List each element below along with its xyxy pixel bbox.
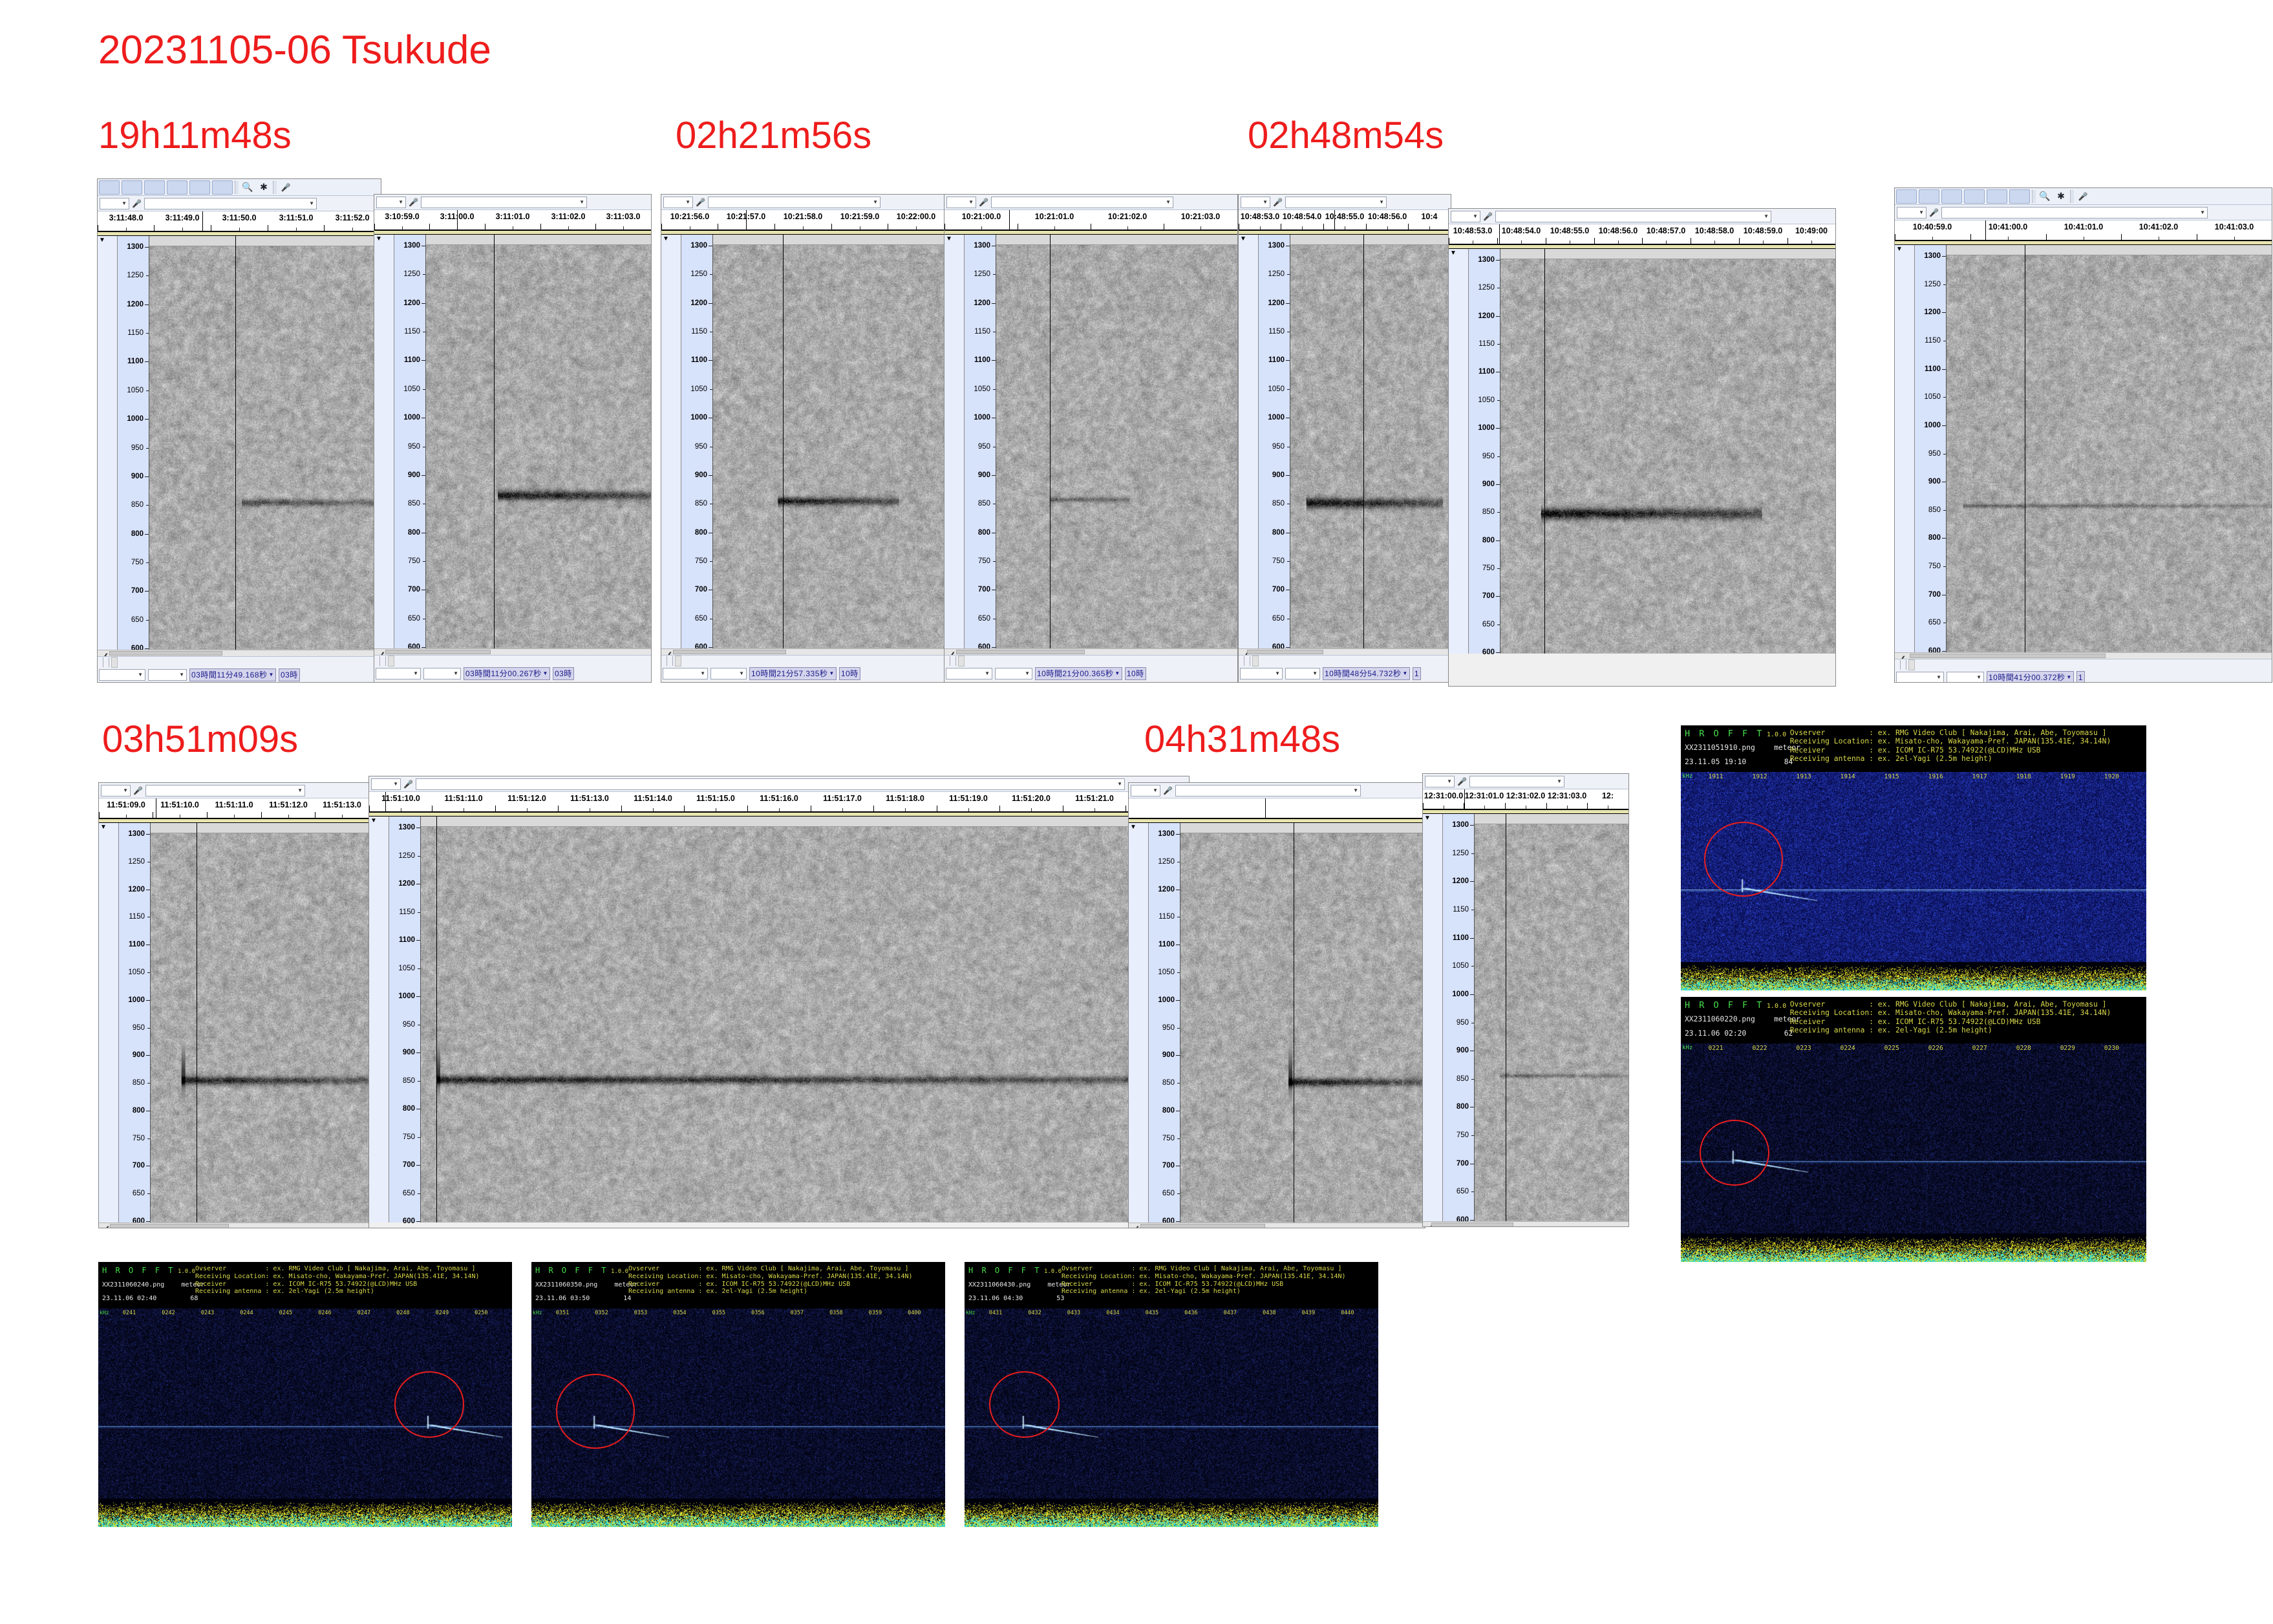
frequency-ruler: 1300125012001150110010501000950900850800…	[389, 817, 421, 1223]
hrofft-time-tick: 0358	[829, 1310, 842, 1316]
hrofft-window-h5[interactable]: H R O F F T 1.0.0XX2311060430.pngmeteor2…	[965, 1262, 1378, 1527]
record-button[interactable]	[1987, 189, 2007, 204]
microphone-icon: 🎤	[1163, 786, 1173, 795]
host-select[interactable]: ▼	[1131, 785, 1160, 796]
microphone-icon: 🎤	[2076, 190, 2090, 203]
selection-start-field[interactable]: 10時間21分00.365秒▼	[1035, 667, 1122, 680]
multi-tool-icon[interactable]: ✱	[257, 181, 271, 194]
sample-rate-select[interactable]: ▼	[1240, 668, 1283, 679]
skip-start-button[interactable]	[167, 180, 187, 195]
horizontal-scrollbar[interactable]: ❮	[374, 648, 651, 655]
horizontal-scrollbar[interactable]: ❮	[661, 648, 944, 655]
horizontal-scrollbar[interactable]: ❮	[1423, 1221, 1628, 1227]
channels-select[interactable]	[883, 197, 943, 208]
hrofft-datetime: 23.11.06 03:50	[535, 1295, 590, 1302]
audio-track[interactable]: ▼130012501200115011001050100095090085080…	[661, 235, 944, 648]
frequency-tick-label: 1050	[1158, 968, 1175, 976]
recording-device-select[interactable]: ▼	[708, 197, 880, 208]
audio-track[interactable]: ▼130012501200115011001050100095090085080…	[98, 236, 381, 650]
device-toolbar[interactable]: ▼🎤▼	[1129, 783, 1425, 798]
host-select[interactable]: ▼	[1241, 197, 1270, 208]
timeline-ruler[interactable]: 10:40:59.010:41:00.010:41:01.010:41:02.0…	[1895, 220, 2272, 240]
selection-end-field[interactable]: 1	[2076, 671, 2085, 683]
ruler-tick-label: 10:48:55.0	[1325, 212, 1364, 221]
channels-select[interactable]	[319, 198, 379, 209]
track-name-label	[713, 235, 944, 245]
hrofft-window-h4[interactable]: H R O F F T 1.0.0XX2311060350.pngmeteor2…	[531, 1262, 945, 1527]
audio-track[interactable]: ▼130012501200115011001050100095090085080…	[944, 235, 1237, 648]
hrofft-time-tick: 0357	[791, 1310, 804, 1316]
timeline-quickplay-bar[interactable]	[661, 230, 944, 235]
ruler-tick-label: 10:21:00.0	[962, 212, 1001, 221]
recording-device-select[interactable]: ▼	[1285, 197, 1387, 208]
device-toolbar[interactable]: ▼🎤▼	[944, 195, 1237, 210]
toolbar-grip-2[interactable]	[273, 181, 277, 194]
playhead-cursor[interactable]	[1985, 220, 1986, 240]
khz-axis-label: kHz	[533, 1310, 542, 1316]
horizontal-scrollbar[interactable]: ❮	[99, 1223, 369, 1228]
playhead-cursor[interactable]	[385, 792, 386, 811]
timeline-quickplay-bar[interactable]	[1129, 818, 1425, 823]
frequency-tick-label: 900	[1928, 478, 1941, 486]
hrofft-window-h3[interactable]: H R O F F T 1.0.0XX2311060240.pngmeteor2…	[98, 1262, 512, 1527]
frequency-tick-label: 800	[978, 529, 990, 537]
frequency-tick-label: 850	[1162, 1079, 1175, 1087]
hrofft-header: H R O F F T 1.0.0XX2311060240.pngmeteor2…	[98, 1262, 512, 1309]
selection-start-field[interactable]: 03時間11分49.168秒▼	[189, 668, 276, 681]
audacity-window-p8[interactable]: ▼🎤▼11:51:09.011:51:10.011:51:11.011:51:1…	[98, 782, 370, 1228]
hrofft-spectrogram[interactable]: kHz0221022202230224022502260227022802290…	[1681, 1043, 2146, 1262]
hrofft-time-tick: 1911	[1708, 773, 1723, 780]
horizontal-scrollbar[interactable]: ❮	[944, 648, 1237, 655]
snap-mode-select[interactable]: ▼	[1285, 668, 1320, 679]
audio-track[interactable]: ▼130012501200115011001050100095090085080…	[1239, 235, 1451, 648]
frequency-tick-label: 850	[978, 500, 990, 507]
track-playhead	[436, 817, 437, 1223]
selection-toolbar[interactable]: ▼▼03時間11分00.267秒▼03時	[374, 655, 651, 681]
track-menu-icon[interactable]: ▼	[1129, 823, 1148, 831]
ruler-tick-label: 10:21:03.0	[1181, 212, 1220, 221]
recording-device-select[interactable]: ▼	[1495, 211, 1771, 222]
play-button[interactable]	[122, 180, 142, 195]
frequency-tick-label: 850	[408, 500, 420, 507]
pause-button[interactable]	[1896, 189, 1917, 204]
timeline-ruler[interactable]: 3:11:48.03:11:49.03:11:50.03:11:51.03:11…	[98, 211, 381, 231]
horizontal-scrollbar[interactable]: ❮	[98, 650, 381, 656]
multi-tool-icon[interactable]: ✱	[2054, 190, 2068, 203]
playhead-cursor[interactable]	[202, 211, 203, 231]
snap-mode-select[interactable]: ▼	[710, 668, 747, 679]
selection-start-value: 10時間48分54.732秒	[1325, 668, 1401, 679]
playhead-cursor[interactable]	[1265, 798, 1266, 818]
ruler-tick-label: 3:11:50.0	[222, 213, 257, 222]
hrofft-metadata-block: Ovserver : ex. RMG Video Club [ Nakajima…	[1790, 729, 2111, 763]
scroll-left-icon[interactable]: ❮	[1129, 1226, 1140, 1228]
meteor-echo-highlight-circle	[989, 1371, 1060, 1438]
timeline-quickplay-bar[interactable]	[374, 230, 651, 235]
track-control-panel[interactable]: ▼	[369, 817, 389, 1223]
horizontal-scrollbar[interactable]: ❮	[1239, 648, 1451, 655]
channels-select[interactable]	[1774, 211, 1833, 222]
track-control-panel[interactable]: ▼	[944, 235, 965, 648]
snap-mode-select[interactable]: ▼	[1947, 672, 1984, 683]
stop-button[interactable]	[144, 180, 165, 195]
audio-track[interactable]: ▼130012501200115011001050100095090085080…	[1895, 245, 2272, 652]
timeline-ruler[interactable]: 3:10:59.03:11:00.03:11:01.03:11:02.03:11…	[374, 210, 651, 230]
track-control-panel[interactable]: ▼	[1895, 245, 1915, 652]
audacity-window-p2[interactable]: ▼🎤▼3:10:59.03:11:00.03:11:01.03:11:02.03…	[374, 194, 652, 683]
selection-start-value: 10時間21分57.335秒	[751, 668, 827, 679]
selection-start-field[interactable]: 03時間11分00.267秒▼	[464, 667, 550, 680]
hrofft-meta-key: Ovserver	[628, 1265, 698, 1272]
zoom-icon[interactable]: 🔍	[2038, 190, 2052, 203]
channels-select[interactable]	[1176, 197, 1235, 208]
skip-start-button[interactable]	[1964, 189, 1985, 204]
zoom-icon[interactable]: 🔍	[240, 181, 255, 194]
frequency-tick-label: 750	[1162, 1135, 1175, 1142]
hrofft-spectrogram[interactable]: kHz0351035203530354035503560357035803590…	[531, 1309, 945, 1527]
frequency-tick-label: 1250	[398, 852, 415, 860]
track-playhead	[1294, 823, 1294, 1223]
selection-toolbar[interactable]: ▼▼10時間21分00.365秒▼10時	[944, 655, 1237, 681]
audio-track[interactable]: ▼130012501200115011001050100095090085080…	[1129, 823, 1425, 1223]
spectrogram-canvas	[426, 245, 651, 648]
channels-select[interactable]	[590, 197, 649, 208]
spectrogram-view[interactable]	[426, 235, 651, 648]
selection-end-value: 10時	[841, 668, 859, 679]
frequency-tick-label: 1050	[1924, 393, 1941, 401]
selection-start-field[interactable]: 10時間41分00.372秒▼	[1987, 671, 2074, 683]
frequency-tick-label: 1050	[127, 387, 144, 394]
audio-track[interactable]: ▼130012501200115011001050100095090085080…	[369, 817, 1189, 1223]
host-select[interactable]: ▼	[371, 778, 401, 790]
frequency-tick-label: 1250	[128, 858, 145, 866]
audacity-window-p1[interactable]: 🔍✱🎤▼🎤▼3:11:48.03:11:49.03:11:50.03:11:51…	[97, 178, 381, 683]
event-label-2: 02h21m56s	[676, 114, 871, 157]
track-control-panel[interactable]: ▼	[1423, 814, 1443, 1221]
ruler-tick-label: 11:51:11.0	[444, 794, 482, 803]
frequency-tick-label: 1000	[128, 996, 145, 1004]
frequency-tick-label: 1150	[1158, 913, 1175, 921]
selection-end-field[interactable]: 1	[1413, 667, 1421, 680]
channels-select[interactable]	[1567, 776, 1627, 787]
spectrogram-canvas	[151, 833, 369, 1222]
ruler-tick-label: 10:48:59.0	[1744, 226, 1782, 235]
device-toolbar[interactable]: ▼🎤▼	[1449, 209, 1835, 224]
audacity-window-p5[interactable]: ▼🎤▼10:48:53.010:48:54.010:48:55.010:48:5…	[1238, 194, 1451, 683]
playhead-cursor[interactable]	[156, 798, 156, 818]
frequency-ruler: 1300125012001150110010501000950900850800…	[1259, 235, 1290, 648]
selection-toolbar[interactable]: ▼▼03時間11分49.168秒▼03時	[98, 656, 381, 682]
track-control-panel[interactable]: ▼	[1449, 249, 1469, 654]
frequency-tick-label: 1150	[974, 328, 990, 336]
audacity-window-p6[interactable]: ▼🎤▼10:48:53.010:48:54.010:48:55.010:48:5…	[1448, 208, 1836, 687]
playhead-cursor[interactable]	[746, 210, 747, 230]
track-control-panel[interactable]: ▼	[99, 823, 119, 1223]
timeline-quickplay-bar[interactable]	[944, 230, 1237, 235]
sample-rate-select[interactable]: ▼	[1896, 672, 1944, 683]
device-toolbar[interactable]: ▼🎤▼	[1423, 774, 1628, 789]
frequency-tick-label: 950	[133, 1024, 145, 1032]
frequency-tick-label: 1000	[974, 414, 990, 422]
playhead-cursor[interactable]	[1499, 224, 1500, 244]
hrofft-spectrogram[interactable]: kHz1911191219131914191519161917191819191…	[1681, 772, 2146, 990]
timeline-quickplay-bar[interactable]	[1239, 230, 1451, 235]
spectrogram-view[interactable]	[151, 823, 369, 1223]
selection-end-field[interactable]: 03時	[553, 667, 574, 680]
sample-rate-label	[1239, 656, 1244, 666]
hrofft-window-h1[interactable]: H R O F F T 1.0.0XX2311051910.pngmeteor2…	[1681, 725, 2146, 990]
spectrogram-view[interactable]	[713, 235, 944, 648]
snap-mode-select[interactable]: ▼	[148, 669, 187, 681]
audacity-window-p7[interactable]: 🔍✱🎤▼🎤▼10:40:59.010:41:00.010:41:01.010:4…	[1894, 187, 2272, 683]
hrofft-meta-key: Receiver	[1790, 1018, 1869, 1026]
ruler-tick-label: 10:22:00.0	[897, 212, 935, 221]
audacity-window-p4[interactable]: ▼🎤▼10:21:00.010:21:01.010:21:02.010:21:0…	[944, 194, 1238, 683]
frequency-tick-label: 1100	[399, 936, 415, 944]
spectrogram-view[interactable]	[1290, 235, 1451, 648]
ruler-tick-label: 12:31:00.0	[1424, 791, 1463, 800]
track-menu-icon[interactable]: ▼	[369, 817, 389, 825]
host-select[interactable]: ▼	[376, 197, 406, 208]
audio-track[interactable]: ▼130012501200115011001050100095090085080…	[374, 235, 651, 648]
hrofft-meta-key: Receiving Location	[1062, 1273, 1131, 1280]
spectrogram-view[interactable]	[149, 236, 381, 650]
hrofft-meta-value: ex. Misato-cho, Wakayama-Pref. JAPAN(135…	[1139, 1273, 1345, 1280]
selection-toolbar[interactable]: ▼▼10時間48分54.732秒▼1	[1239, 655, 1451, 681]
khz-axis-label: kHz	[100, 1310, 109, 1316]
timeline-ruler[interactable]: 12:31:00.012:31:01.012:31:02.012:31:03.0…	[1423, 789, 1628, 809]
frequency-tick-label: 900	[695, 471, 707, 479]
device-toolbar[interactable]: ▼🎤▼	[98, 196, 381, 211]
host-select[interactable]: ▼	[100, 198, 129, 209]
playhead-cursor[interactable]	[1464, 789, 1465, 809]
ruler-tick-label: 10:41:02.0	[2139, 222, 2178, 231]
timeline-ruler[interactable]: 10:21:00.010:21:01.010:21:02.010:21:03.0	[944, 210, 1237, 230]
loop-button[interactable]	[212, 180, 233, 195]
spectrogram-canvas	[1180, 833, 1425, 1222]
sample-rate-select[interactable]: ▼	[663, 668, 708, 679]
frequency-tick-label: 1050	[1478, 396, 1495, 404]
toolbar-grip-2[interactable]	[2070, 190, 2074, 203]
track-menu-icon[interactable]: ▼	[374, 235, 394, 243]
hrofft-meta-row: Receiving Location: ex. Misato-cho, Waka…	[1790, 737, 2111, 745]
track-menu-icon[interactable]: ▼	[1423, 814, 1442, 822]
audio-track[interactable]: ▼130012501200115011001050100095090085080…	[99, 823, 369, 1223]
snap-mode-select[interactable]: ▼	[423, 668, 461, 679]
selection-end-field[interactable]: 03時	[279, 668, 300, 681]
timeline-quickplay-bar[interactable]	[99, 818, 369, 823]
spectrogram-view[interactable]	[1947, 245, 2272, 652]
hrofft-time-tick: 0221	[1708, 1045, 1723, 1052]
transport-toolbar[interactable]: 🔍✱🎤	[98, 179, 381, 196]
frequency-tick-label: 950	[1482, 453, 1495, 460]
frequency-tick-label: 950	[1162, 1024, 1175, 1032]
frequency-tick-label: 750	[1928, 562, 1941, 570]
toolbar-grip[interactable]	[2032, 190, 2036, 203]
track-control-panel[interactable]: ▼	[98, 236, 118, 650]
frequency-tick-label: 650	[1482, 621, 1495, 628]
selection-toolbar[interactable]: ▼▼10時間41分00.372秒▼1	[1895, 659, 2272, 683]
host-select[interactable]: ▼	[663, 197, 693, 208]
record-button[interactable]	[189, 180, 210, 195]
stop-button[interactable]	[1941, 189, 1962, 204]
channels-select[interactable]	[2210, 207, 2270, 219]
loop-button[interactable]	[2009, 189, 2030, 204]
frequency-tick-label: 750	[1482, 564, 1495, 572]
device-toolbar[interactable]: ▼🎤▼	[1895, 205, 2272, 220]
audio-track[interactable]: ▼130012501200115011001050100095090085080…	[1449, 249, 1835, 654]
pause-button[interactable]	[99, 180, 120, 195]
recording-device-select[interactable]: ▼	[144, 198, 317, 209]
frequency-tick-label: 900	[1162, 1051, 1175, 1059]
recording-device-select[interactable]: ▼	[416, 778, 1125, 790]
ruler-tick-label: 3:11:02.0	[551, 212, 586, 221]
recording-device-select[interactable]: ▼	[421, 197, 587, 208]
recording-device-select[interactable]: ▼	[1175, 785, 1361, 796]
sample-rate-select[interactable]: ▼	[99, 669, 145, 681]
sample-rate-select[interactable]: ▼	[376, 668, 421, 679]
frequency-tick-label: 750	[133, 1135, 145, 1142]
device-toolbar[interactable]: ▼🎤▼	[369, 776, 1189, 792]
spectrogram-view[interactable]	[1500, 249, 1835, 654]
frequency-tick-label: 650	[695, 615, 707, 623]
hrofft-time-tick: 0434	[1106, 1310, 1119, 1316]
scroll-left-icon[interactable]: ❮	[99, 1226, 110, 1228]
horizontal-scrollbar[interactable]: ❮	[1129, 1223, 1425, 1228]
frequency-tick-label: 1300	[1268, 242, 1285, 250]
frequency-ruler: 1300125012001150110010501000950900850800…	[681, 235, 713, 648]
timeline-quickplay-bar[interactable]	[1449, 244, 1835, 249]
transport-toolbar[interactable]: 🔍✱🎤	[1895, 188, 2272, 205]
timeline-quickplay-bar[interactable]	[1895, 240, 2272, 245]
hrofft-version: 1.0.0	[1767, 1003, 1786, 1010]
toolbar-grip[interactable]	[235, 181, 239, 194]
hrofft-spectrogram[interactable]: kHz0431043204330434043504360437043804390…	[965, 1309, 1378, 1527]
frequency-tick-label: 950	[1928, 450, 1941, 458]
frequency-tick-label: 1100	[1453, 934, 1469, 942]
channels-select[interactable]	[308, 785, 367, 796]
track-control-panel[interactable]: ▼	[374, 235, 394, 648]
track-menu-icon[interactable]: ▼	[1895, 245, 1914, 253]
track-menu-icon[interactable]: ▼	[1239, 235, 1258, 243]
audacity-window-p10[interactable]: ▼🎤▼▼130012501200115011001050100095090085…	[1128, 782, 1425, 1228]
hrofft-meta-value: ex. ICOM IC-R75 53.74922(@LCD)MHz USB	[1878, 746, 2041, 754]
device-toolbar[interactable]: ▼🎤▼	[1239, 195, 1451, 210]
track-menu-icon[interactable]: ▼	[99, 823, 118, 831]
frequency-ruler: 1300125012001150110010501000950900850800…	[118, 236, 149, 650]
spectrogram-view[interactable]	[996, 235, 1237, 648]
timeline-ruler[interactable]: 11:51:10.011:51:11.011:51:12.011:51:13.0…	[369, 792, 1189, 812]
frequency-tick-label: 800	[1482, 537, 1495, 544]
recording-device-select[interactable]: ▼	[145, 785, 305, 796]
frequency-tick-label: 1150	[127, 329, 144, 337]
spectrogram-view[interactable]	[1180, 823, 1425, 1223]
host-select[interactable]: ▼	[1451, 211, 1480, 222]
recording-device-select[interactable]: ▼	[991, 197, 1173, 208]
frequency-tick-label: 700	[133, 1162, 145, 1170]
timeline-ruler[interactable]: 11:51:09.011:51:10.011:51:11.011:51:12.0…	[99, 798, 369, 818]
host-select[interactable]: ▼	[101, 785, 131, 796]
playhead-cursor[interactable]	[1334, 210, 1335, 230]
track-control-panel[interactable]: ▼	[1129, 823, 1149, 1223]
device-toolbar[interactable]: ▼🎤▼	[99, 783, 369, 798]
timeline-ruler[interactable]: 10:21:56.010:21:57.010:21:58.010:21:59.0…	[661, 210, 944, 230]
selection-end-field[interactable]: 10時	[1125, 667, 1146, 680]
host-select[interactable]: ▼	[1425, 776, 1455, 787]
selection-toolbar[interactable]: ▼▼10時間21分57.335秒▼10時	[661, 655, 944, 681]
ruler-tick-label: 12:31:01.0	[1465, 791, 1504, 800]
recording-device-select[interactable]: ▼	[1941, 207, 2208, 219]
hrofft-meta-key: Ovserver	[195, 1265, 265, 1272]
sample-rate-select[interactable]: ▼	[946, 668, 992, 679]
device-toolbar[interactable]: ▼🎤▼	[661, 195, 944, 210]
timeline-quickplay-bar[interactable]	[98, 231, 381, 236]
selection-end-field[interactable]: 10時	[839, 667, 860, 680]
host-select[interactable]: ▼	[946, 197, 976, 208]
channels-select[interactable]	[1363, 785, 1423, 796]
spectrogram-canvas	[713, 245, 944, 648]
audio-track[interactable]: ▼130012501200115011001050100095090085080…	[1423, 814, 1628, 1221]
timeline-quickplay-bar[interactable]	[1423, 809, 1628, 814]
spectrogram-view[interactable]	[1475, 814, 1628, 1221]
hrofft-meta-row: Receiving Location: ex. Misato-cho, Waka…	[1062, 1273, 1346, 1281]
channels-select[interactable]	[1389, 197, 1449, 208]
frequency-tick-label: 650	[408, 615, 420, 623]
playhead-cursor[interactable]	[1009, 210, 1010, 230]
host-select[interactable]: ▼	[1897, 207, 1926, 219]
selection-start-field[interactable]: 10時間48分54.732秒▼	[1323, 667, 1410, 680]
snap-mode-label	[1901, 660, 1906, 670]
timeline-ruler[interactable]: 10:48:53.010:48:54.010:48:55.010:48:56.0…	[1449, 224, 1835, 244]
timeline-quickplay-bar[interactable]	[369, 812, 1189, 817]
ruler-tick-label: 10:48:54.0	[1283, 212, 1321, 221]
play-button[interactable]	[1919, 189, 1939, 204]
playhead-cursor[interactable]	[457, 210, 458, 230]
track-name-label	[1475, 814, 1628, 824]
track-control-panel[interactable]: ▼	[1239, 235, 1259, 648]
recording-device-select[interactable]: ▼	[1469, 776, 1564, 787]
track-menu-icon[interactable]: ▼	[661, 235, 681, 243]
timeline-ruler[interactable]: 10:48:53.010:48:54.010:48:55.010:48:56.0…	[1239, 210, 1451, 230]
timeline-ruler[interactable]	[1129, 798, 1425, 818]
device-toolbar[interactable]: ▼🎤▼	[374, 195, 651, 210]
audacity-window-p9[interactable]: ▼🎤▼11:51:10.011:51:11.011:51:12.011:51:1…	[368, 776, 1190, 1228]
ruler-tick-label: 11:51:10.0	[160, 800, 199, 809]
audacity-window-p3[interactable]: ▼🎤▼10:21:56.010:21:57.010:21:58.010:21:5…	[661, 194, 945, 683]
frequency-tick-label: 1300	[127, 243, 144, 251]
frequency-tick-label: 1000	[127, 415, 144, 423]
selection-start-value: 10時間41分00.372秒	[1989, 672, 2065, 683]
track-menu-icon[interactable]: ▼	[98, 236, 117, 244]
snap-mode-select[interactable]: ▼	[995, 668, 1032, 679]
hrofft-spectrogram[interactable]: kHz0241024202430244024502460247024802490…	[98, 1309, 512, 1527]
track-menu-icon[interactable]: ▼	[944, 235, 964, 243]
selection-start-field[interactable]: 10時間21分57.335秒▼	[749, 667, 837, 680]
hrofft-meta-row: Ovserver : ex. RMG Video Club [ Nakajima…	[1790, 729, 2111, 737]
hrofft-meta-row: Receiver : ex. ICOM IC-R75 53.74922(@LCD…	[195, 1281, 480, 1288]
hrofft-version: 1.0.0	[611, 1268, 628, 1275]
track-menu-icon[interactable]: ▼	[1449, 249, 1468, 257]
audacity-window-p11[interactable]: ▼🎤▼12:31:00.012:31:01.012:31:02.012:31:0…	[1422, 773, 1629, 1227]
horizontal-scrollbar[interactable]: ❮	[1895, 652, 2272, 659]
spectrogram-view[interactable]	[421, 817, 1189, 1223]
hrofft-time-tick: 1919	[2060, 773, 2075, 780]
hrofft-time-tick: 0225	[1884, 1045, 1899, 1052]
track-control-panel[interactable]: ▼	[661, 235, 681, 648]
hrofft-window-h2[interactable]: H R O F F T 1.0.0XX2311060220.pngmeteor2…	[1681, 997, 2146, 1262]
frequency-tick-label: 700	[1162, 1162, 1175, 1170]
